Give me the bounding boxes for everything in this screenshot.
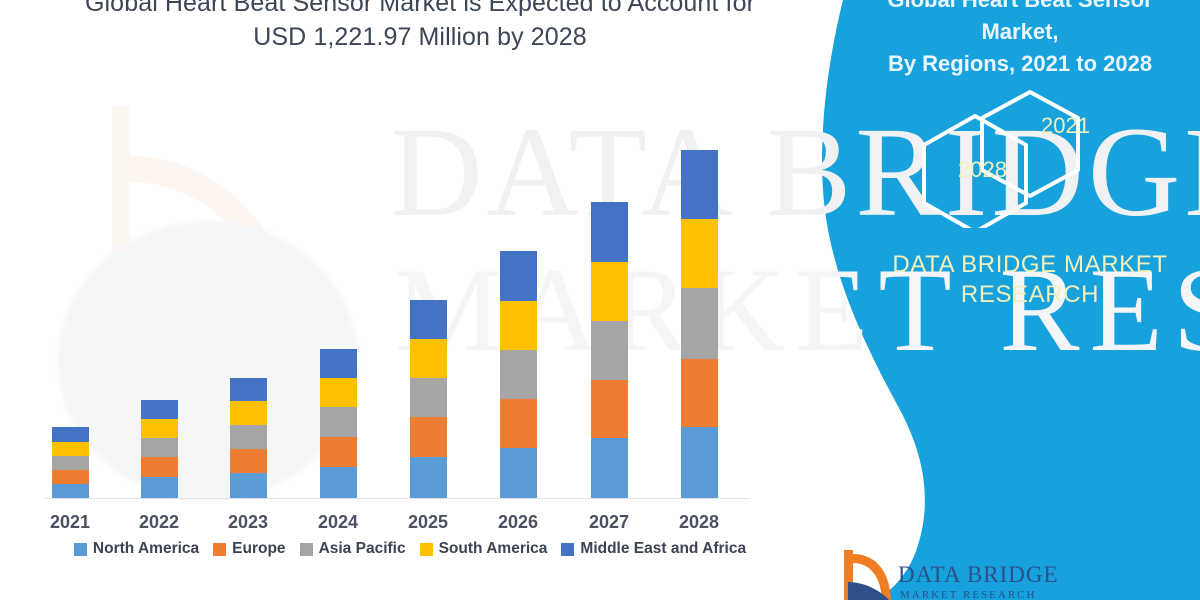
hexagon-group: 2021 2028 [920,88,1140,228]
bar-segment-south-america[interactable] [681,219,718,288]
bar-segment-middle-east-and-africa[interactable] [500,251,537,301]
bar-segment-north-america[interactable] [141,477,178,498]
legend-swatch-icon [300,543,313,556]
hexagon-2021-label: 2021 [1041,113,1090,139]
legend-item-europe[interactable]: Europe [213,540,285,558]
legend-item-north-america[interactable]: North America [74,540,199,558]
bar-2023[interactable] [230,378,267,498]
bar-2024[interactable] [320,349,357,498]
right-panel-title-line-2: By Regions, 2021 to 2028 [888,51,1152,76]
bar-segment-asia-pacific[interactable] [410,378,447,417]
bar-segment-south-america[interactable] [52,442,89,456]
bar-segment-asia-pacific[interactable] [320,407,357,437]
bar-segment-south-america[interactable] [320,378,357,407]
x-axis-label-2024: 2024 [293,512,383,533]
infographic-canvas: DATA BRIDGE MARKET RESEARCH Global Heart… [0,0,1200,600]
bar-segment-europe[interactable] [320,437,357,467]
bars-area [0,0,800,498]
data-bridge-b-mark-icon [838,548,894,600]
footer-logo: DATA BRIDGE MARKET RESEARCH [838,548,1078,600]
x-axis-label-2023: 2023 [203,512,293,533]
bar-segment-north-america[interactable] [230,473,267,498]
bar-segment-asia-pacific[interactable] [52,456,89,470]
legend-label: Asia Pacific [319,540,406,558]
brand-name: DATA BRIDGE MARKET RESEARCH [880,250,1180,310]
footer-logo-subtext: MARKET RESEARCH [900,589,1036,600]
x-axis-label-2025: 2025 [383,512,473,533]
bar-segment-middle-east-and-africa[interactable] [591,202,628,262]
bar-segment-north-america[interactable] [591,438,628,498]
bar-2028[interactable] [681,150,718,498]
bar-segment-south-america[interactable] [410,339,447,378]
x-axis-label-2028: 2028 [654,512,744,533]
x-axis-label-2027: 2027 [564,512,654,533]
bar-segment-europe[interactable] [410,417,447,457]
bar-segment-middle-east-and-africa[interactable] [141,400,178,419]
bar-segment-south-america[interactable] [500,301,537,350]
x-axis-label-2022: 2022 [114,512,204,533]
bar-2026[interactable] [500,251,537,498]
bar-segment-asia-pacific[interactable] [681,288,718,359]
x-axis-label-2026: 2026 [473,512,563,533]
bar-segment-asia-pacific[interactable] [591,321,628,380]
bar-2022[interactable] [141,400,178,498]
bar-segment-europe[interactable] [141,457,178,477]
footer-logo-text: DATA BRIDGE [898,562,1059,588]
bar-segment-north-america[interactable] [500,448,537,498]
legend-label: South America [439,540,548,558]
legend-swatch-icon [213,543,226,556]
bar-segment-north-america[interactable] [52,484,89,498]
bar-segment-asia-pacific[interactable] [230,425,267,449]
x-axis-line [44,498,750,499]
legend-label: Middle East and Africa [580,540,746,558]
bar-segment-north-america[interactable] [681,427,718,498]
legend-item-middle-east-and-africa[interactable]: Middle East and Africa [561,540,746,558]
legend-swatch-icon [420,543,433,556]
bar-segment-middle-east-and-africa[interactable] [410,300,447,339]
right-panel-title-line-1: Global Heart Beat Sensor Market, [887,0,1152,44]
hexagon-2028-label: 2028 [958,157,1007,183]
bar-segment-middle-east-and-africa[interactable] [52,427,89,442]
bar-segment-north-america[interactable] [410,457,447,498]
bar-segment-europe[interactable] [230,449,267,473]
brand-line-2: RESEARCH [961,281,1099,308]
legend-item-asia-pacific[interactable]: Asia Pacific [300,540,406,558]
bar-segment-europe[interactable] [52,470,89,484]
bar-2021[interactable] [52,427,89,498]
bar-segment-south-america[interactable] [230,401,267,425]
right-panel-title: Global Heart Beat Sensor Market, By Regi… [855,0,1185,80]
bar-segment-south-america[interactable] [141,419,178,438]
brand-line-1: DATA BRIDGE MARKET [892,251,1167,278]
legend-swatch-icon [74,543,87,556]
bar-segment-europe[interactable] [500,399,537,448]
bar-segment-asia-pacific[interactable] [141,438,178,457]
x-axis-label-2021: 2021 [25,512,115,533]
bar-segment-middle-east-and-africa[interactable] [230,378,267,401]
bar-2025[interactable] [410,300,447,498]
bar-segment-middle-east-and-africa[interactable] [320,349,357,378]
legend-label: Europe [232,540,285,558]
bar-segment-middle-east-and-africa[interactable] [681,150,718,219]
legend-swatch-icon [561,543,574,556]
stacked-bar-chart: 20212022202320242025202620272028 [0,0,800,600]
bar-segment-asia-pacific[interactable] [500,350,537,399]
legend-label: North America [93,540,199,558]
legend-item-south-america[interactable]: South America [420,540,548,558]
bar-2027[interactable] [591,202,628,498]
chart-legend: North AmericaEuropeAsia PacificSouth Ame… [30,540,790,558]
bar-segment-europe[interactable] [591,380,628,438]
bar-segment-north-america[interactable] [320,467,357,498]
bar-segment-south-america[interactable] [591,262,628,321]
bar-segment-europe[interactable] [681,359,718,427]
